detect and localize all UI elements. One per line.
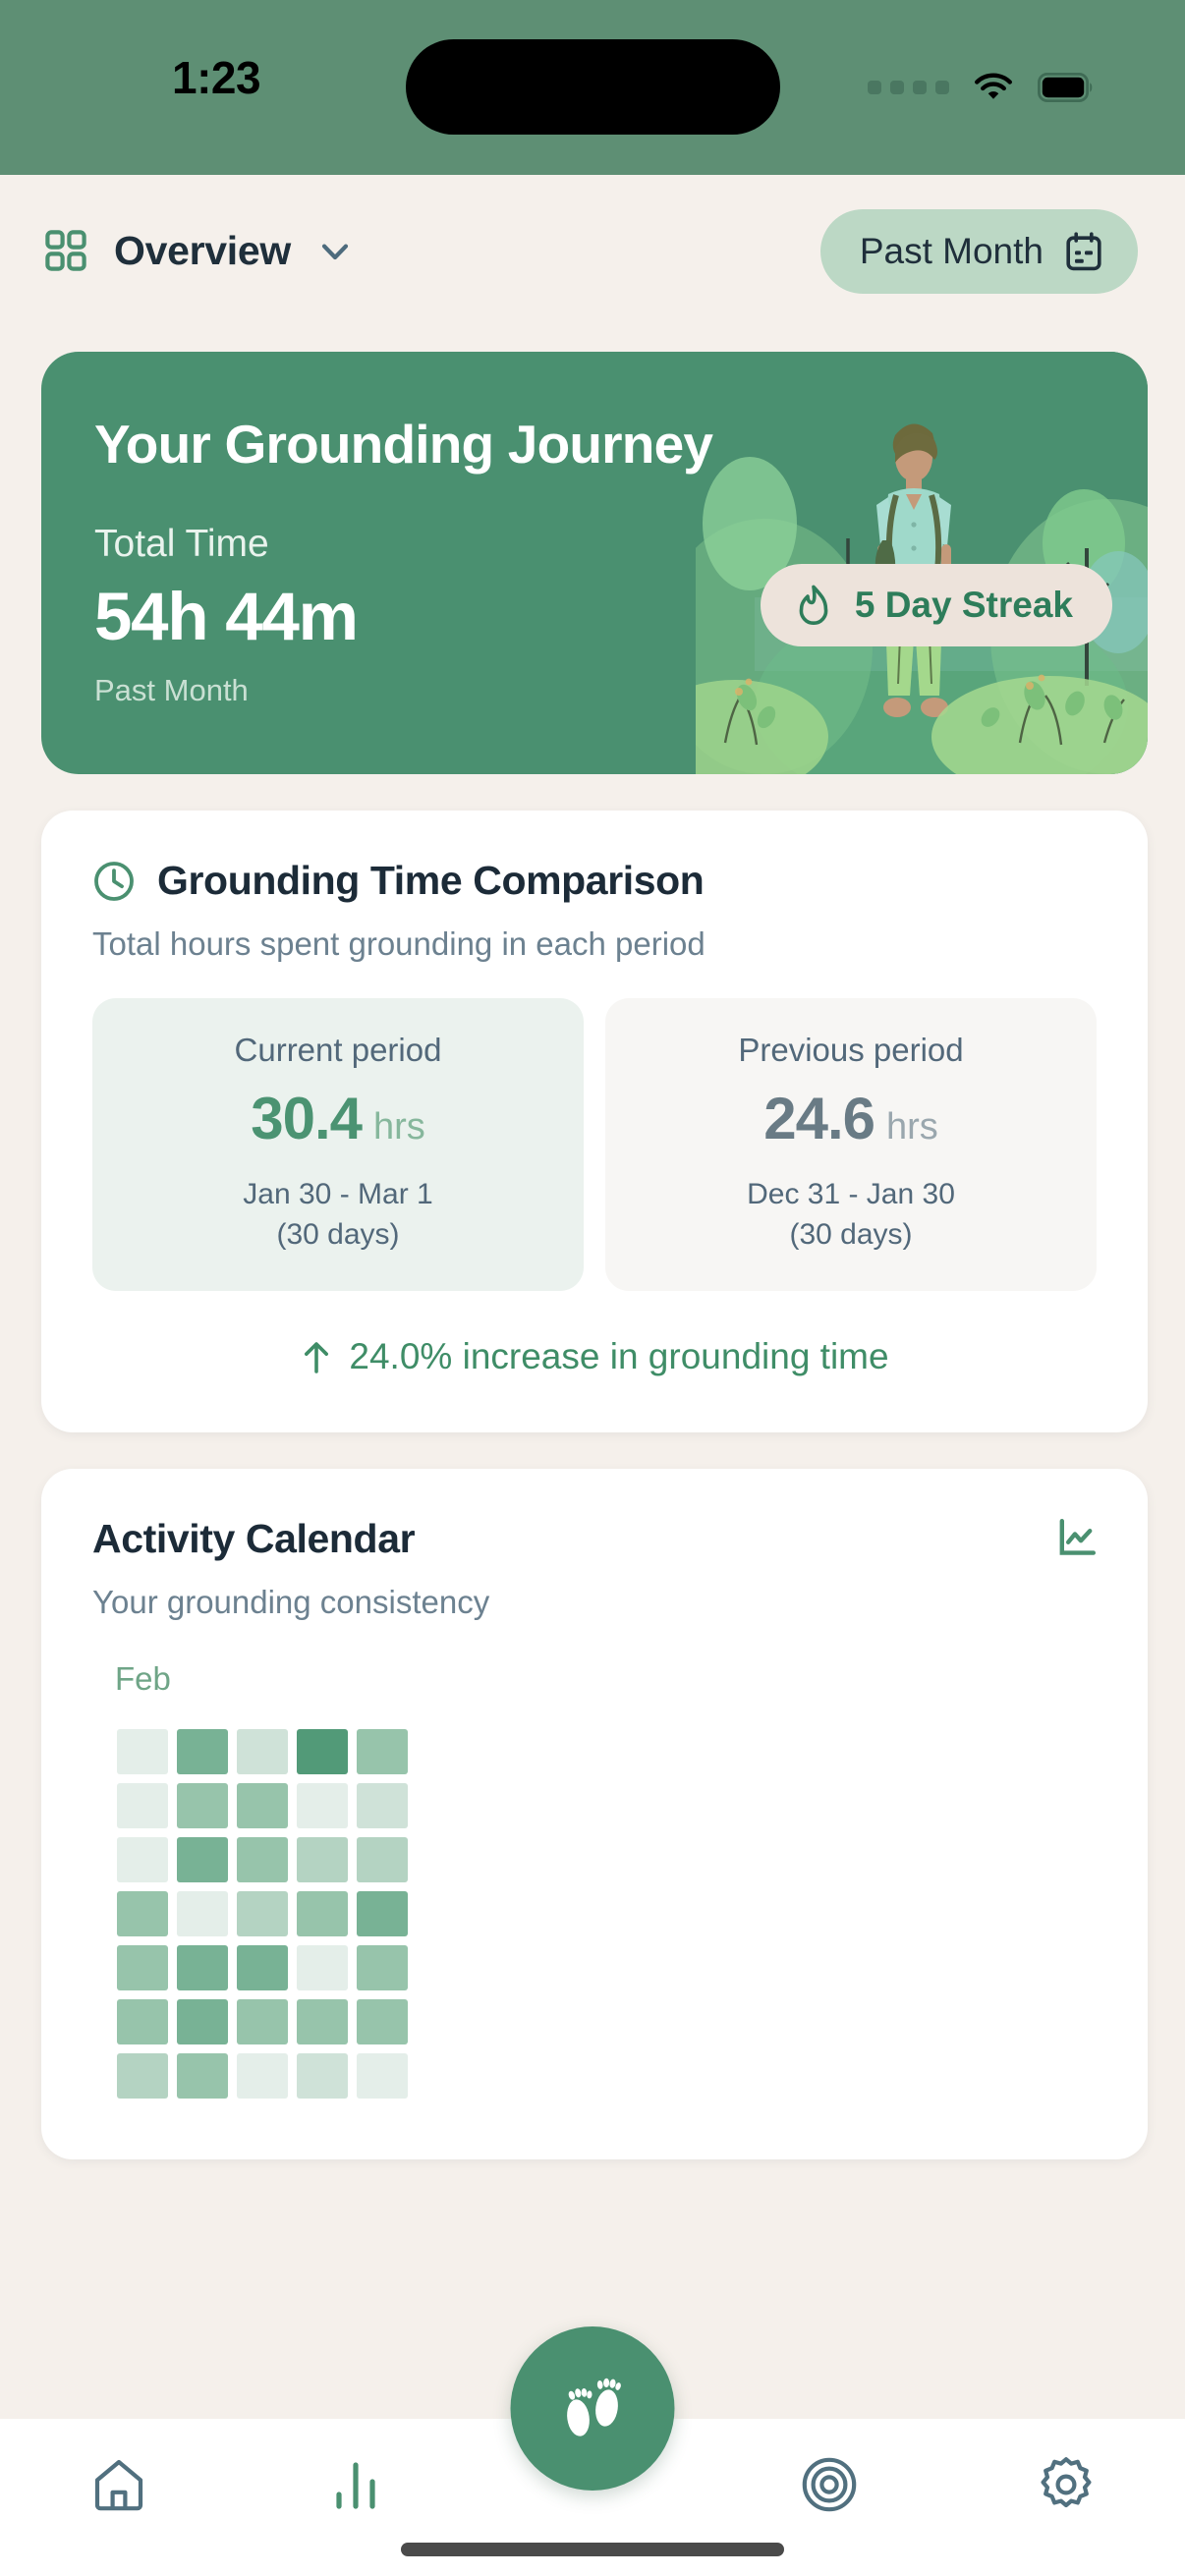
heatmap-cell[interactable] xyxy=(177,1837,228,1882)
current-period-label: Current period xyxy=(102,1032,574,1069)
comparison-card-title: Grounding Time Comparison xyxy=(157,858,704,904)
heatmap-cell[interactable] xyxy=(237,1999,288,2044)
heatmap-cell[interactable] xyxy=(237,1783,288,1828)
activity-calendar-header: Activity Calendar xyxy=(41,1469,1148,1562)
previous-period-panel: Previous period 24.6 hrs Dec 31 - Jan 30… xyxy=(605,998,1097,1291)
app-screen: 1:23 Over xyxy=(0,0,1185,2576)
activity-calendar-month-label: Feb xyxy=(41,1621,1148,1698)
home-icon xyxy=(88,2454,149,2515)
dynamic-island xyxy=(406,39,780,135)
current-period-panel: Current period 30.4 hrs Jan 30 - Mar 1 (… xyxy=(92,998,584,1291)
line-chart-icon[interactable] xyxy=(1055,1516,1100,1561)
heatmap-cell[interactable] xyxy=(357,1945,408,1990)
bar-chart-icon xyxy=(327,2454,384,2511)
clock-icon xyxy=(92,860,136,903)
heatmap-cell[interactable] xyxy=(177,1945,228,1990)
home-indicator xyxy=(401,2543,784,2556)
streak-badge-label: 5 Day Streak xyxy=(855,585,1073,626)
heatmap-cell[interactable] xyxy=(237,1945,288,1990)
heatmap-cell[interactable] xyxy=(237,1891,288,1936)
activity-calendar-subtitle: Your grounding consistency xyxy=(41,1562,1148,1621)
heatmap-cell[interactable] xyxy=(117,1729,168,1774)
heatmap-cell[interactable] xyxy=(297,1783,348,1828)
previous-period-label: Previous period xyxy=(615,1032,1087,1069)
nav-item-goals[interactable] xyxy=(711,2454,948,2515)
hero-metric-value: 54h 44m xyxy=(94,578,712,655)
hero-text-block: Your Grounding Journey Total Time 54h 44… xyxy=(94,413,712,708)
heatmap-cell[interactable] xyxy=(357,2053,408,2099)
heatmap-cell[interactable] xyxy=(297,2053,348,2099)
heatmap-cell[interactable] xyxy=(297,1999,348,2044)
current-period-range: Jan 30 - Mar 1 xyxy=(243,1178,432,1210)
comparison-card-subtitle: Total hours spent grounding in each peri… xyxy=(41,904,1148,963)
nav-item-home[interactable] xyxy=(0,2454,237,2515)
heatmap-cell[interactable] xyxy=(177,1999,228,2044)
overview-selector[interactable]: Overview xyxy=(45,228,354,274)
previous-period-unit: hrs xyxy=(886,1106,938,1148)
grounding-time-comparison-card: Grounding Time Comparison Total hours sp… xyxy=(41,811,1148,1432)
heatmap-cell[interactable] xyxy=(177,1729,228,1774)
heatmap-cell[interactable] xyxy=(237,1729,288,1774)
previous-period-range: Dec 31 - Jan 30 xyxy=(747,1178,955,1210)
previous-period-days: (30 days) xyxy=(789,1218,912,1251)
status-bar-time: 1:23 xyxy=(172,51,260,104)
heatmap-cell[interactable] xyxy=(357,1891,408,1936)
battery-icon xyxy=(1038,73,1095,102)
current-period-value: 30.4 xyxy=(251,1085,362,1152)
grounding-journey-card: Your Grounding Journey Total Time 54h 44… xyxy=(41,352,1148,774)
heatmap-cell[interactable] xyxy=(177,2053,228,2099)
heatmap-cell[interactable] xyxy=(357,1783,408,1828)
grid-icon xyxy=(45,230,88,273)
heatmap-cell[interactable] xyxy=(297,1729,348,1774)
heatmap-cell[interactable] xyxy=(117,1837,168,1882)
heatmap-cell[interactable] xyxy=(297,1837,348,1882)
arrow-up-icon xyxy=(300,1338,333,1375)
heatmap-cell[interactable] xyxy=(237,1837,288,1882)
heatmap-cell[interactable] xyxy=(117,1945,168,1990)
status-bar: 1:23 xyxy=(0,0,1185,175)
hero-title: Your Grounding Journey xyxy=(94,413,712,476)
target-icon xyxy=(799,2454,860,2515)
heatmap-cell[interactable] xyxy=(297,1945,348,1990)
heatmap-cell[interactable] xyxy=(117,1783,168,1828)
period-selector-button[interactable]: Past Month xyxy=(820,209,1138,294)
heatmap-cell[interactable] xyxy=(357,1999,408,2044)
footprints-icon xyxy=(553,2365,632,2453)
heatmap-cell[interactable] xyxy=(177,1783,228,1828)
activity-calendar-title: Activity Calendar xyxy=(92,1516,415,1562)
page-title: Overview xyxy=(114,228,291,274)
status-bar-icons xyxy=(868,71,1095,104)
start-grounding-fab[interactable] xyxy=(511,2326,675,2491)
previous-period-value: 24.6 xyxy=(763,1085,875,1152)
comparison-delta-text: 24.0% increase in grounding time xyxy=(349,1336,888,1377)
heatmap-cell[interactable] xyxy=(117,1999,168,2044)
comparison-panels: Current period 30.4 hrs Jan 30 - Mar 1 (… xyxy=(41,963,1148,1291)
chevron-down-icon[interactable] xyxy=(316,233,354,270)
wifi-icon xyxy=(971,71,1016,104)
comparison-card-header: Grounding Time Comparison xyxy=(41,811,1148,904)
heatmap-cell[interactable] xyxy=(237,2053,288,2099)
heatmap-cell[interactable] xyxy=(357,1729,408,1774)
heatmap-cell[interactable] xyxy=(357,1837,408,1882)
nav-item-stats[interactable] xyxy=(237,2454,474,2511)
heatmap-cell[interactable] xyxy=(117,1891,168,1936)
hero-metric-label: Total Time xyxy=(94,523,712,566)
current-period-days: (30 days) xyxy=(276,1218,399,1251)
signal-dots-icon xyxy=(868,81,949,94)
heatmap-cell[interactable] xyxy=(117,2053,168,2099)
page-header: Overview Past Month xyxy=(0,175,1185,327)
calendar-icon xyxy=(1063,231,1104,272)
streak-badge: 5 Day Streak xyxy=(761,564,1112,646)
hero-metric-period: Past Month xyxy=(94,673,712,708)
comparison-delta: 24.0% increase in grounding time xyxy=(41,1291,1148,1432)
nav-item-settings[interactable] xyxy=(948,2454,1185,2515)
heatmap-cell[interactable] xyxy=(177,1891,228,1936)
activity-heatmap xyxy=(41,1698,408,2159)
gear-icon xyxy=(1036,2454,1097,2515)
current-period-unit: hrs xyxy=(373,1106,425,1148)
activity-calendar-card: Activity Calendar Your grounding consist… xyxy=(41,1469,1148,2159)
period-selector-label: Past Month xyxy=(860,231,1044,272)
heatmap-cell[interactable] xyxy=(297,1891,348,1936)
person-barefoot-in-nature-illustration xyxy=(696,352,1148,774)
flame-icon xyxy=(794,583,833,628)
